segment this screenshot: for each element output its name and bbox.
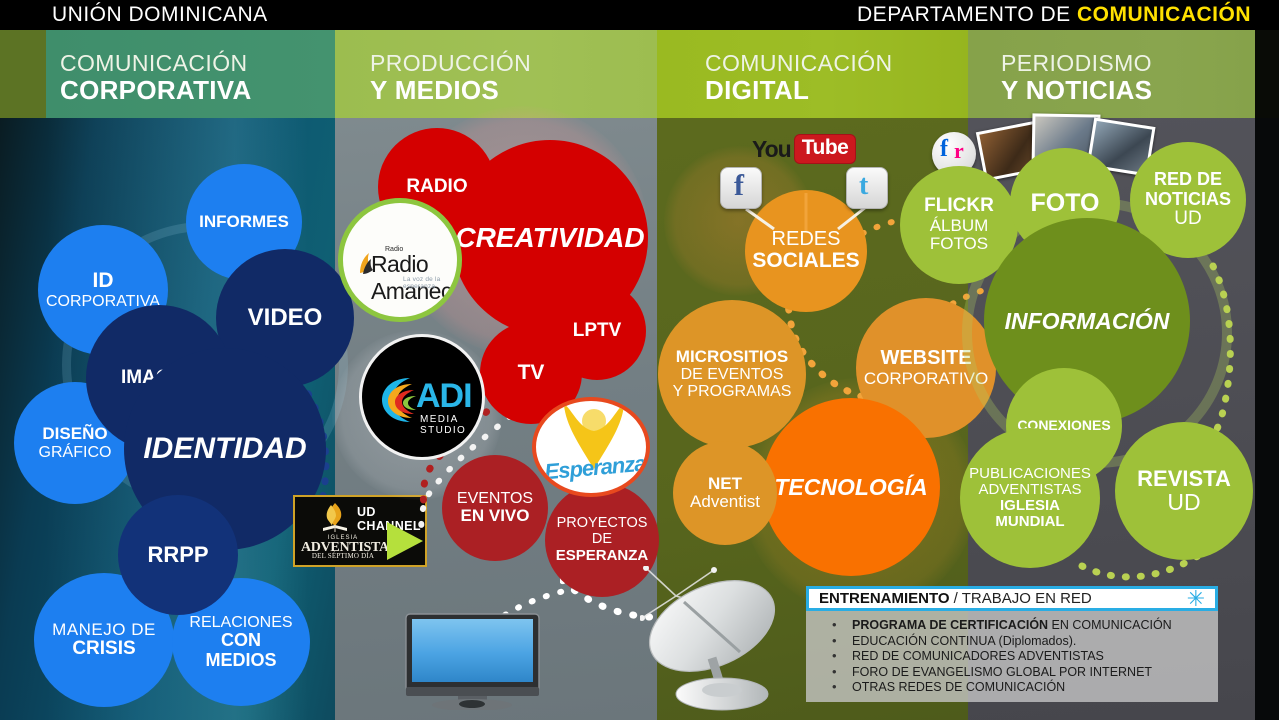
training-item-2: RED DE COMUNICADORES ADVENTISTAS <box>806 649 1218 665</box>
flickr-f-glyph: f <box>940 136 948 163</box>
bubble-rednot-line-1: NOTICIAS <box>1145 190 1231 209</box>
bubble-proy-line-0: PROYECTOS <box>557 516 648 532</box>
bubble-rednot-line-0: RED DE <box>1154 170 1222 189</box>
bubble-proy-line-2: ESPERANZA <box>556 548 649 564</box>
twitter-icon[interactable]: t <box>846 167 888 209</box>
header-bold-corporativa: CORPORATIVA <box>60 76 252 104</box>
ud-channel-church-name: IGLESIA ADVENTISTA DEL SÉPTIMO DÍA <box>301 534 385 561</box>
training-list: PROGRAMA DE CERTIFICACIÓN EN COMUNICACIÓ… <box>806 611 1218 702</box>
bubble-lptv-line-0: LPTV <box>573 321 622 342</box>
adi-media-studio-logo[interactable]: ADI MEDIA STUDIO <box>359 334 485 460</box>
bubble-eventos-line-0: EVENTOS <box>457 490 533 507</box>
training-item-0-bold: PROGRAMA DE CERTIFICACIÓN <box>852 618 1048 632</box>
training-item-4-rest: OTRAS REDES DE COMUNICACIÓN <box>852 680 1065 694</box>
header-thin-corporativa: COMUNICACIÓN <box>60 51 252 76</box>
bubble-pub-line-2: IGLESIA <box>1000 498 1060 514</box>
bubble-micrositios[interactable]: MICROSITIOS DE EVENTOS Y PROGRAMAS <box>658 300 806 448</box>
department-title-highlight: COMUNICACIÓN <box>1077 3 1251 26</box>
bubble-micro-line-1: DE EVENTOS <box>681 366 784 383</box>
header-band-corporativa: COMUNICACIÓN CORPORATIVA <box>0 30 335 118</box>
bubble-eventos-line-1: EN VIVO <box>461 507 530 525</box>
bubble-pub-line-0: PUBLICACIONES <box>969 466 1091 482</box>
bubble-crisis-line-0: MANEJO DE <box>52 621 156 639</box>
bubble-flickr-line-2: FOTOS <box>930 235 988 253</box>
ud-channel-logo[interactable]: UD CHANNEL IGLESIA ADVENTISTA DEL SÉPTIM… <box>293 495 427 567</box>
header-thin-digital: COMUNICACIÓN <box>705 51 893 76</box>
training-panel: ENTRENAMIENTO / TRABAJO EN RED ✳ PROGRAM… <box>806 586 1218 696</box>
bubble-flickr-line-0: FLICKR <box>924 196 994 217</box>
bubble-proy-line-1: DE <box>592 532 612 548</box>
bubble-pub-line-1: ADVENTISTAS <box>978 482 1081 498</box>
bubble-flickr-line-1: ÁLBUM <box>930 217 989 235</box>
bubble-net-line-1: Adventist <box>690 493 760 511</box>
header-band-digital: COMUNICACIÓN DIGITAL <box>657 30 968 118</box>
bubble-rel-line-0: RELACIONES <box>189 614 292 631</box>
bubble-rev-line-1: UD <box>1167 490 1200 515</box>
bubble-revista-ud[interactable]: REVISTA UD <box>1115 422 1253 560</box>
bubble-publicaciones-adventistas[interactable]: PUBLICACIONES ADVENTISTAS IGLESIA MUNDIA… <box>960 428 1100 568</box>
header-thin-produccion: PRODUCCIÓN <box>370 51 531 76</box>
training-panel-title: ENTRENAMIENTO / TRABAJO EN RED ✳ <box>806 586 1218 611</box>
department-title: DEPARTAMENTO DE COMUNICACIÓN <box>857 3 1251 27</box>
bubble-redes-line-1: SOCIALES <box>752 250 859 273</box>
header-bold-produccion: Y MEDIOS <box>370 76 531 104</box>
adventist-emblem-icon <box>316 501 354 535</box>
training-item-0: PROGRAMA DE CERTIFICACIÓN EN COMUNICACIÓ… <box>806 618 1218 634</box>
bubble-pub-line-3: MUNDIAL <box>995 514 1064 530</box>
header-bold-periodismo: Y NOTICIAS <box>1001 76 1152 104</box>
bubble-micro-line-2: Y PROGRAMAS <box>673 383 792 400</box>
esperanza-logo[interactable]: Esperanza <box>532 397 650 497</box>
bubble-creatividad-line-0: CREATIVIDAD <box>455 223 644 253</box>
bubble-radio-line-0: RADIO <box>406 177 467 198</box>
training-item-2-rest: RED DE COMUNICADORES ADVENTISTAS <box>852 649 1104 663</box>
bubble-rednot-line-2: UD <box>1174 209 1201 230</box>
adi-name: ADI <box>416 377 472 416</box>
bubble-micro-line-0: MICROSITIOS <box>676 348 788 366</box>
bubble-video-line-0: VIDEO <box>248 305 323 331</box>
training-title-plain: TRABAJO EN RED <box>962 590 1092 607</box>
bubble-identidad-line-0: IDENTIDAD <box>143 433 306 465</box>
training-item-4: OTRAS REDES DE COMUNICACIÓN <box>806 680 1218 696</box>
flickr-r-glyph: r <box>954 138 964 164</box>
header-thin-periodismo: PERIODISMO <box>1001 51 1152 76</box>
play-button-icon[interactable] <box>383 519 425 563</box>
bubble-diseno-line-0: DISEÑO <box>42 425 107 443</box>
organization-title: UNIÓN DOMINICANA <box>52 3 268 27</box>
bubble-info-line-0: INFORMACIÓN <box>1005 309 1170 334</box>
bubble-rel-line-1: CON <box>221 631 261 650</box>
bubble-rrpp[interactable]: RRPP <box>118 495 238 615</box>
amanecer-tagline: La voz de la esperanza <box>403 276 457 290</box>
bubble-web-line-0: WEBSITE <box>880 348 971 370</box>
bubble-rev-line-0: REVISTA <box>1137 467 1231 491</box>
training-item-1: EDUCACIÓN CONTINUA (Diplomados). <box>806 634 1218 650</box>
bubble-tecnologia[interactable]: TECNOLOGÍA <box>762 398 940 576</box>
department-title-plain: DEPARTAMENTO DE <box>857 3 1077 26</box>
training-item-3: FORO DE EVANGELISMO GLOBAL POR INTERNET <box>806 665 1218 681</box>
bubble-informes-line-0: INFORMES <box>199 213 289 231</box>
youtube-you-text: You <box>752 136 791 163</box>
facebook-glyph: f <box>734 169 744 203</box>
header-band-periodismo: PERIODISMO Y NOTICIAS <box>968 30 1255 118</box>
bubble-id-line-0: ID <box>93 270 114 293</box>
training-title-bold: ENTRENAMIENTO <box>819 590 950 607</box>
bubble-diseno-line-1: GRÁFICO <box>39 444 112 461</box>
training-item-1-rest: EDUCACIÓN CONTINUA (Diplomados). <box>852 634 1076 648</box>
youtube-logo[interactable]: You Tube <box>752 132 856 166</box>
youtube-tube-badge: Tube <box>794 134 857 164</box>
adi-sub: MEDIA STUDIO <box>420 414 482 436</box>
infographic-canvas: UNIÓN DOMINICANA DEPARTAMENTO DE COMUNIC… <box>0 0 1279 720</box>
header-band-right-edge <box>1255 30 1279 118</box>
bubble-tv-line-0: TV <box>518 362 545 385</box>
top-bar: UNIÓN DOMINICANA DEPARTAMENTO DE COMUNIC… <box>0 0 1279 30</box>
satellite-dish-image <box>640 566 805 720</box>
radio-amanecer-logo[interactable]: Radio Radio Amanecer La voz de la espera… <box>338 198 462 322</box>
bubble-eventos-en-vivo[interactable]: EVENTOS EN VIVO <box>442 455 548 561</box>
asterisk-icon: ✳ <box>1187 592 1205 606</box>
facebook-icon[interactable]: f <box>720 167 762 209</box>
bubble-net-line-0: NET <box>708 475 742 493</box>
bubble-crisis-line-1: CRISIS <box>72 639 135 660</box>
header-bold-digital: DIGITAL <box>705 76 893 104</box>
header-band-produccion: PRODUCCIÓN Y MEDIOS <box>335 30 657 118</box>
twitter-glyph: t <box>859 170 868 202</box>
bubble-net-adventist[interactable]: NET Adventist <box>673 441 777 545</box>
training-item-0-rest: EN COMUNICACIÓN <box>1048 618 1172 632</box>
training-item-3-rest: FORO DE EVANGELISMO GLOBAL POR INTERNET <box>852 665 1152 679</box>
training-title-sep: / <box>954 590 958 607</box>
bubble-rel-line-2: MEDIOS <box>205 651 276 670</box>
right-dark-edge <box>1255 118 1279 720</box>
bubble-foto-line-0: FOTO <box>1031 190 1100 217</box>
tv-set-image <box>400 612 545 710</box>
bubble-rrpp-line-0: RRPP <box>147 543 208 567</box>
bubble-tec-line-0: TECNOLOGÍA <box>774 475 927 500</box>
